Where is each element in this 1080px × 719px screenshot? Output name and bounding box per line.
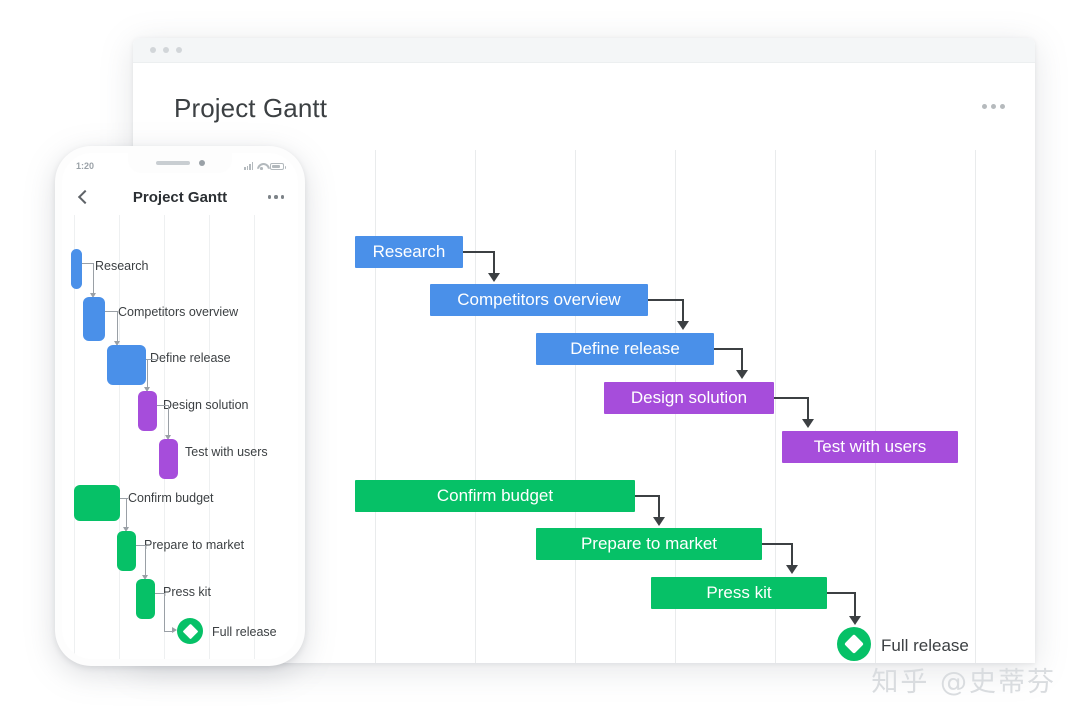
more-dot: [982, 104, 987, 109]
status-time: 1:20: [76, 161, 94, 171]
more-dot: [281, 195, 285, 199]
phone-gantt-label-competitors-overview: Competitors overview: [118, 305, 238, 319]
signal-icon: [244, 162, 253, 170]
phone-nav-bar: Project Gantt: [62, 179, 298, 215]
window-minimize-dot[interactable]: [163, 47, 169, 53]
front-camera-icon: [199, 160, 205, 166]
phone-gantt-bar-competitors-overview[interactable]: [83, 297, 105, 341]
phone-gantt-label-confirm-budget: Confirm budget: [128, 491, 213, 505]
more-options-button[interactable]: [982, 104, 1005, 109]
more-dot: [1000, 104, 1005, 109]
phone-gantt-milestone-label: Full release: [212, 625, 277, 639]
phone-gantt-bar-design-solution[interactable]: [138, 391, 157, 431]
gantt-bar-competitors-overview[interactable]: Competitors overview: [430, 284, 648, 316]
gantt-bar-research[interactable]: Research: [355, 236, 463, 268]
back-chevron-icon[interactable]: [76, 190, 90, 204]
gantt-bar-test-with-users[interactable]: Test with users: [782, 431, 958, 463]
phone-more-options-button[interactable]: [268, 195, 285, 199]
phone-gantt-milestone-full-release[interactable]: [177, 618, 203, 644]
phone-notch: [128, 153, 232, 173]
speaker-grille-icon: [156, 161, 190, 165]
phone-gantt-bar-define-release[interactable]: [107, 345, 146, 385]
more-dot: [991, 104, 996, 109]
phone-gantt-bar-test-with-users[interactable]: [159, 439, 178, 479]
gantt-bar-design-solution[interactable]: Design solution: [604, 382, 774, 414]
gantt-bar-define-release[interactable]: Define release: [536, 333, 714, 365]
gantt-bar-confirm-budget[interactable]: Confirm budget: [355, 480, 635, 512]
wifi-icon: [257, 163, 266, 170]
window-titlebar: [133, 38, 1035, 63]
phone-gantt-bar-research[interactable]: [71, 249, 82, 289]
page-title: Project Gantt: [174, 93, 327, 124]
diamond-icon: [182, 623, 198, 639]
phone-gantt-label-research: Research: [95, 259, 149, 273]
gantt-bar-prepare-to-market[interactable]: Prepare to market: [536, 528, 762, 560]
window-close-dot[interactable]: [150, 47, 156, 53]
phone-page-title: Project Gantt: [62, 189, 298, 206]
battery-icon: [270, 163, 284, 170]
phone-gantt-label-design-solution: Design solution: [163, 398, 248, 412]
phone-gantt-label-test-with-users: Test with users: [185, 445, 268, 459]
status-icons: [244, 162, 284, 170]
phone-gantt-bar-prepare-to-market[interactable]: [117, 531, 136, 571]
gantt-milestone-label: Full release: [881, 636, 969, 656]
phone-gantt-label-define-release: Define release: [150, 351, 231, 365]
more-dot: [268, 195, 272, 199]
window-maximize-dot[interactable]: [176, 47, 182, 53]
phone-gantt-bar-press-kit[interactable]: [136, 579, 155, 619]
diamond-icon: [844, 634, 864, 654]
watermark: 知乎 @史蒂芬: [871, 660, 1056, 699]
phone-screen: 1:20 Project Gantt Rese: [62, 153, 298, 659]
gantt-chart-phone: Research Competitors overview Define rel…: [62, 215, 298, 659]
phone-gantt-label-press-kit: Press kit: [163, 585, 211, 599]
gantt-milestone-full-release[interactable]: [837, 627, 871, 661]
gantt-bar-press-kit[interactable]: Press kit: [651, 577, 827, 609]
more-dot: [274, 195, 278, 199]
phone-gantt-bar-confirm-budget[interactable]: [74, 485, 120, 521]
phone-gantt-label-prepare-to-market: Prepare to market: [144, 538, 244, 552]
phone-mockup: 1:20 Project Gantt Rese: [55, 146, 305, 666]
